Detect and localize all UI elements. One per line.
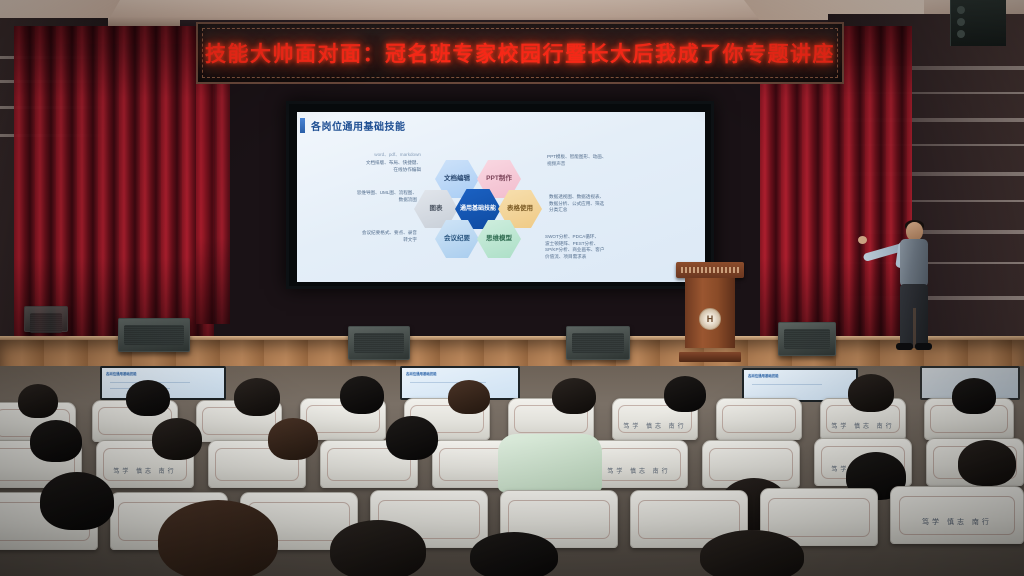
annotation-top-right: PPT模板、智能图形、动画、 视频声音 bbox=[547, 154, 663, 167]
podium: H bbox=[676, 262, 744, 362]
stage-monitor-4 bbox=[778, 322, 836, 356]
audience-head-a5 bbox=[448, 380, 490, 414]
audience-head-b2 bbox=[152, 418, 202, 460]
seat-c8-motto: 笃学 慎志 南行 bbox=[891, 517, 1023, 527]
speaker-hand bbox=[858, 236, 867, 244]
podium-top bbox=[676, 262, 744, 278]
audience-head-b1 bbox=[30, 420, 82, 462]
aux-monitor-3-title: 各岗位通用基础技能 bbox=[748, 373, 779, 378]
presentation-slide: 各岗位通用基础技能 word、pdf、markdown 文档排版、布局、快捷键、… bbox=[297, 112, 705, 282]
annotation-mid-right: 数据透视图、数据透视表、 数据分析、公式应用、筛选 分类汇总 bbox=[549, 194, 669, 214]
podium-body: H bbox=[685, 278, 735, 348]
audience-head-c1 bbox=[40, 472, 114, 530]
audience-head-a7 bbox=[664, 376, 706, 412]
speaker-shoe-left bbox=[896, 343, 913, 350]
podium-emblem: H bbox=[699, 308, 721, 330]
aux-monitor-2-title: 各岗位通用基础技能 bbox=[406, 371, 437, 376]
audience-head-a4 bbox=[340, 376, 384, 414]
annotation-top-left: 文档排版、布局、快捷键、 在线协作编辑 bbox=[323, 160, 421, 173]
podium-base bbox=[679, 352, 741, 362]
audience-head-b7 bbox=[958, 440, 1016, 486]
annotation-bottom-left: 会议纪要格式、要点、录音 转文字 bbox=[313, 230, 417, 243]
audience-head-a9 bbox=[952, 378, 996, 414]
audience-head-a6 bbox=[552, 378, 596, 414]
audience-head-c3 bbox=[330, 520, 426, 576]
hexagon-cluster: 文档编辑 PPT制作 图表 通用基础技能 表格使用 会议纪要 思维模型 bbox=[419, 150, 539, 268]
auditorium-photo: 技能大帅面对面：冠名班专家校园行暨长大后我成了你专题讲座 各岗位通用基础技能 w… bbox=[0, 0, 1024, 576]
podium-top-detail bbox=[681, 267, 739, 273]
slide-title: 各岗位通用基础技能 bbox=[311, 118, 406, 133]
seat-b2-motto: 笃学 慎志 南行 bbox=[97, 466, 193, 475]
speaker-legs bbox=[900, 284, 928, 348]
led-banner: 技能大帅面对面：冠名班专家校园行暨长大后我成了你专题讲座 bbox=[196, 22, 844, 84]
stage-monitor-1 bbox=[118, 318, 190, 352]
audience-head-a1 bbox=[18, 384, 58, 418]
seat-a7-motto: 笃学 慎志 南行 bbox=[613, 421, 697, 430]
seat-c8: 笃学 慎志 南行 bbox=[890, 486, 1024, 544]
aux-monitor-1-title: 各岗位通用基础技能 bbox=[106, 371, 137, 376]
audience-head-c2 bbox=[158, 500, 278, 576]
audience-head-b3 bbox=[268, 418, 318, 460]
audience-body-hoodie bbox=[498, 434, 602, 492]
speaker-vest bbox=[900, 239, 928, 287]
audience-head-a3 bbox=[234, 378, 280, 416]
annotation-top-left-en: word、pdf、markdown bbox=[327, 152, 421, 159]
stage-monitor-3 bbox=[566, 326, 630, 360]
annotation-mid-left: 思维导图、UML图、流程图、 数据流图 bbox=[309, 190, 417, 203]
audience-head-b4 bbox=[386, 416, 438, 460]
led-banner-text: 技能大帅面对面：冠名班专家校园行暨长大后我成了你专题讲座 bbox=[205, 38, 835, 68]
seat-a9-motto: 笃学 慎志 南行 bbox=[821, 421, 905, 430]
audience-head-a2 bbox=[126, 380, 170, 416]
speaker-shoe-right bbox=[915, 343, 932, 350]
audience-head-c4 bbox=[470, 532, 558, 576]
seat-b6-motto: 笃学 慎志 南行 bbox=[591, 466, 687, 475]
aux-monitor-3: 各岗位通用基础技能 bbox=[742, 368, 858, 402]
slide-title-accent-bar bbox=[300, 118, 305, 133]
speaker-presenter bbox=[884, 222, 938, 362]
seat-b6: 笃学 慎志 南行 bbox=[590, 440, 688, 488]
projection-screen: 各岗位通用基础技能 word、pdf、markdown 文档排版、布局、快捷键、… bbox=[286, 101, 714, 289]
stage-monitor-5 bbox=[24, 306, 68, 332]
audience-head-c5 bbox=[700, 530, 804, 576]
seat-a8 bbox=[716, 398, 802, 440]
stage-monitor-2 bbox=[348, 326, 410, 360]
audience-head-a8 bbox=[848, 374, 894, 412]
ceiling-speaker-array bbox=[950, 0, 1006, 46]
annotation-bottom-right: SWOT分析、PDCA循环、 波士顿矩阵、PEST分析、 SP/KP分析、商业画… bbox=[545, 234, 671, 261]
